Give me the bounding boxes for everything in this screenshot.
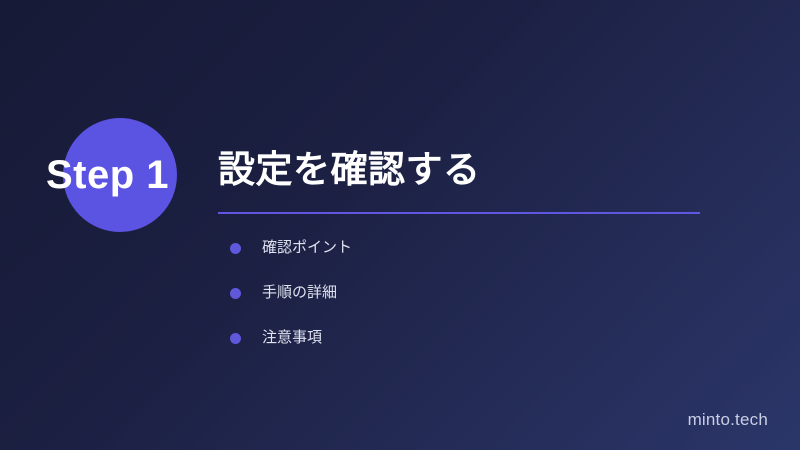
- slide-content: 設定を確認する 確認ポイント 手順の詳細 注意事項: [218, 146, 758, 371]
- list-item-label: 確認ポイント: [262, 238, 352, 258]
- bullet-list: 確認ポイント 手順の詳細 注意事項: [218, 236, 758, 350]
- footer-brand: minto.tech: [688, 410, 768, 430]
- presentation-slide: Step 1 設定を確認する 確認ポイント 手順の詳細 注意事項 minto.t…: [0, 0, 800, 450]
- list-item-label: 手順の詳細: [262, 283, 337, 303]
- list-item: 確認ポイント: [218, 236, 758, 260]
- title-divider: [218, 212, 700, 214]
- bullet-dot-icon: [230, 333, 241, 344]
- list-item: 手順の詳細: [218, 281, 758, 305]
- bullet-dot-icon: [230, 288, 241, 299]
- page-title: 設定を確認する: [218, 146, 758, 194]
- list-item: 注意事項: [218, 326, 758, 350]
- list-item-label: 注意事項: [262, 328, 322, 348]
- bullet-dot-icon: [230, 243, 241, 254]
- step-label: Step 1: [46, 147, 206, 203]
